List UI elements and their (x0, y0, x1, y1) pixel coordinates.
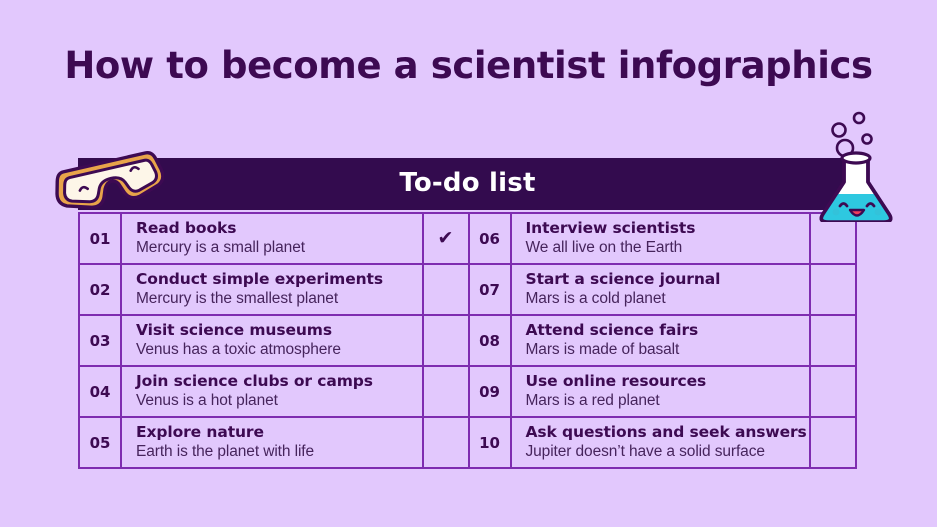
row-checkbox[interactable] (811, 418, 855, 467)
row-text: Read books Mercury is a small planet (122, 214, 424, 263)
table-row[interactable]: 03 Visit science museums Venus has a tox… (78, 314, 468, 367)
row-number: 09 (470, 367, 512, 416)
row-text: Visit science museums Venus has a toxic … (122, 316, 424, 365)
row-title: Use online resources (526, 372, 800, 392)
row-subtitle: Venus is a hot planet (136, 391, 412, 411)
row-checkbox[interactable] (811, 316, 855, 365)
row-text: Join science clubs or camps Venus is a h… (122, 367, 424, 416)
bubble-2 (854, 113, 864, 123)
header-title: To-do list (78, 158, 857, 210)
row-title: Start a science journal (526, 270, 800, 290)
row-subtitle: Earth is the planet with life (136, 442, 412, 462)
row-number: 01 (80, 214, 122, 263)
table-row[interactable]: 08 Attend science fairs Mars is made of … (468, 314, 858, 367)
row-subtitle: We all live on the Earth (526, 238, 800, 258)
table-row[interactable]: 02 Conduct simple experiments Mercury is… (78, 263, 468, 316)
page-title: How to become a scientist infographics (0, 44, 937, 87)
row-number: 03 (80, 316, 122, 365)
row-number: 08 (470, 316, 512, 365)
todo-column-right: 06 Interview scientists We all live on t… (468, 212, 858, 467)
row-title: Ask questions and seek answers (526, 423, 800, 443)
row-title: Join science clubs or camps (136, 372, 412, 392)
table-row[interactable]: 06 Interview scientists We all live on t… (468, 212, 858, 265)
row-title: Explore nature (136, 423, 412, 443)
table-row[interactable]: 04 Join science clubs or camps Venus is … (78, 365, 468, 418)
row-number: 07 (470, 265, 512, 314)
row-title: Interview scientists (526, 219, 800, 239)
row-subtitle: Mercury is a small planet (136, 238, 412, 258)
bubble-1 (833, 124, 846, 137)
row-subtitle: Mars is a red planet (526, 391, 800, 411)
kawaii-flask-icon (814, 106, 906, 222)
row-number: 04 (80, 367, 122, 416)
row-title: Attend science fairs (526, 321, 800, 341)
row-subtitle: Mars is a cold planet (526, 289, 800, 309)
todo-column-left: 01 Read books Mercury is a small planet … (78, 212, 468, 467)
row-checkbox[interactable]: ✔ (424, 214, 468, 263)
row-text: Use online resources Mars is a red plane… (512, 367, 812, 416)
row-number: 05 (80, 418, 122, 467)
row-title: Conduct simple experiments (136, 270, 412, 290)
todo-list-table: 01 Read books Mercury is a small planet … (78, 212, 857, 467)
row-text: Interview scientists We all live on the … (512, 214, 812, 263)
row-subtitle: Jupiter doesn’t have a solid surface (526, 442, 800, 462)
row-checkbox[interactable] (424, 418, 468, 467)
table-row[interactable]: 05 Explore nature Earth is the planet wi… (78, 416, 468, 469)
row-number: 06 (470, 214, 512, 263)
table-row[interactable]: 10 Ask questions and seek answers Jupite… (468, 416, 858, 469)
row-title: Read books (136, 219, 412, 239)
row-subtitle: Mercury is the smallest planet (136, 289, 412, 309)
bubble-4 (863, 135, 872, 144)
row-number: 02 (80, 265, 122, 314)
row-checkbox[interactable] (811, 367, 855, 416)
table-row[interactable]: 07 Start a science journal Mars is a col… (468, 263, 858, 316)
row-subtitle: Mars is made of basalt (526, 340, 800, 360)
row-text: Attend science fairs Mars is made of bas… (512, 316, 812, 365)
row-checkbox[interactable] (424, 367, 468, 416)
row-checkbox[interactable] (811, 265, 855, 314)
table-row[interactable]: 09 Use online resources Mars is a red pl… (468, 365, 858, 418)
row-checkbox[interactable] (424, 316, 468, 365)
todo-header-bar: To-do list (78, 158, 857, 210)
row-text: Ask questions and seek answers Jupiter d… (512, 418, 812, 467)
row-subtitle: Venus has a toxic atmosphere (136, 340, 412, 360)
row-title: Visit science museums (136, 321, 412, 341)
row-text: Start a science journal Mars is a cold p… (512, 265, 812, 314)
row-checkbox[interactable] (424, 265, 468, 314)
safety-goggles-icon (52, 146, 164, 212)
row-text: Conduct simple experiments Mercury is th… (122, 265, 424, 314)
table-row[interactable]: 01 Read books Mercury is a small planet … (78, 212, 468, 265)
row-text: Explore nature Earth is the planet with … (122, 418, 424, 467)
row-number: 10 (470, 418, 512, 467)
